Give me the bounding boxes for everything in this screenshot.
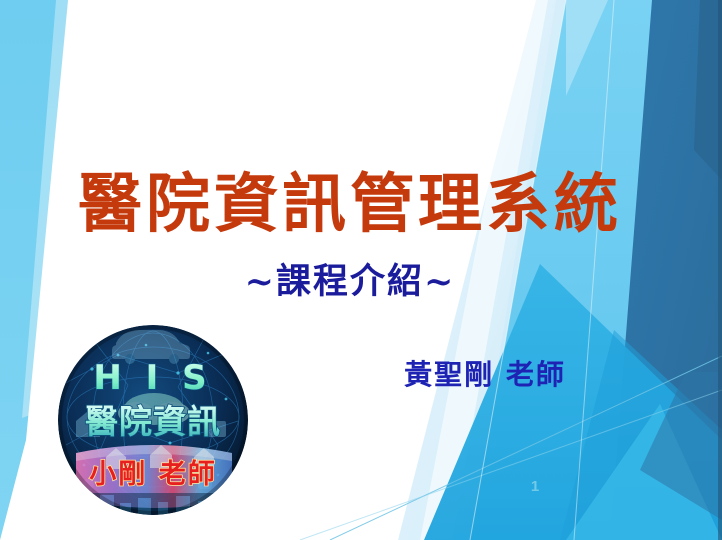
right-edge-strip bbox=[718, 0, 722, 540]
page-number: 1 bbox=[520, 478, 550, 495]
logo-instructor-text: 小剛 老師 bbox=[89, 459, 216, 490]
slide-title: 醫院資訊管理系統 bbox=[0, 172, 700, 237]
course-logo: H I S 醫院資訊 小剛 老師 bbox=[58, 325, 248, 515]
slide-author: 黃聖剛 老師 bbox=[360, 353, 610, 393]
logo-subject-text: 醫院資訊 bbox=[85, 402, 221, 441]
logo-acronym-text: H I S bbox=[93, 358, 212, 398]
presentation-slide: H I S 醫院資訊 小剛 老師 bbox=[0, 0, 722, 540]
slide-subtitle: ~課程介紹~ bbox=[0, 264, 700, 301]
